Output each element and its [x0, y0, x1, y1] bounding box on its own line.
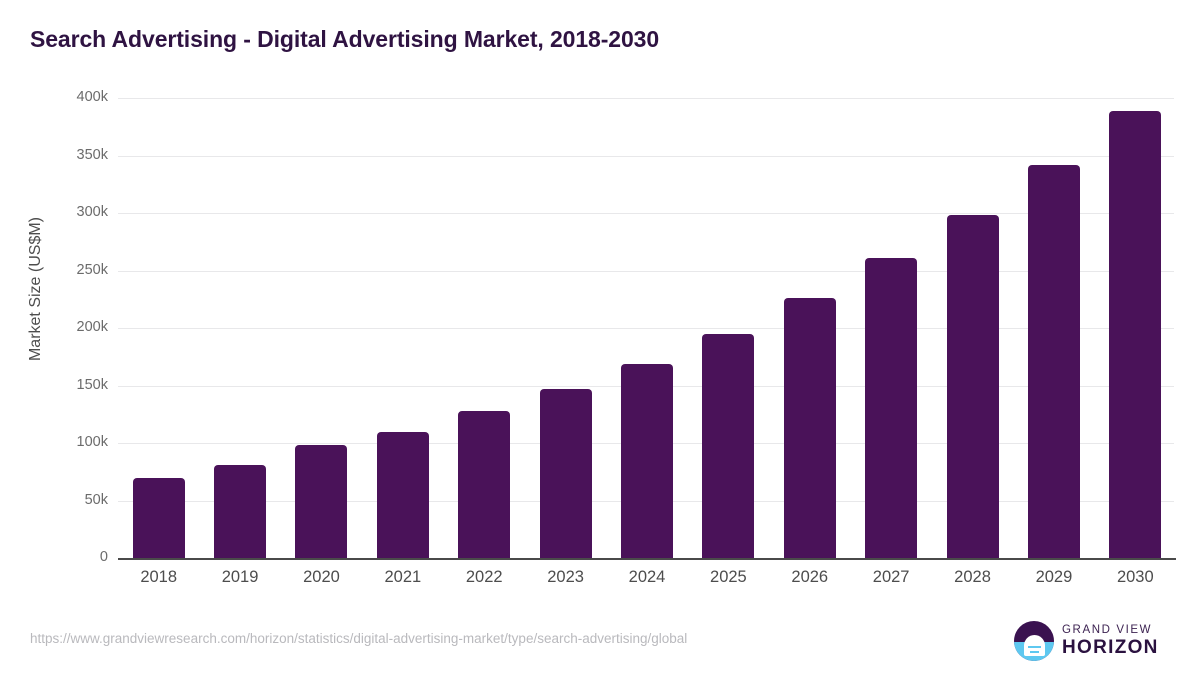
bar[interactable]	[947, 215, 999, 558]
bar[interactable]	[458, 411, 510, 558]
chart-page: Search Advertising - Digital Advertising…	[0, 0, 1200, 675]
x-tick-label: 2026	[770, 568, 850, 587]
x-tick-label: 2027	[851, 568, 931, 587]
x-tick-label: 2023	[526, 568, 606, 587]
y-tick-label: 250k	[0, 262, 108, 278]
x-tick-label: 2018	[119, 568, 199, 587]
y-tick-label: 0	[0, 549, 108, 565]
brand-logo[interactable]: GRAND VIEW HORIZON	[1012, 618, 1176, 664]
y-tick-label: 200k	[0, 319, 108, 335]
bar[interactable]	[214, 465, 266, 558]
x-tick-label: 2022	[444, 568, 524, 587]
bar[interactable]	[702, 334, 754, 558]
brand-name-primary: GRAND VIEW	[1062, 623, 1159, 637]
x-tick-label: 2020	[281, 568, 361, 587]
bar[interactable]	[865, 258, 917, 558]
logo-ray-lower	[1030, 651, 1039, 653]
bar[interactable]	[1028, 165, 1080, 558]
y-tick-label: 400k	[0, 89, 108, 105]
bar[interactable]	[1109, 111, 1161, 558]
y-tick-label: 150k	[0, 377, 108, 393]
x-tick-label: 2028	[933, 568, 1013, 587]
brand-logo-text: GRAND VIEW HORIZON	[1062, 623, 1159, 659]
y-tick-label: 300k	[0, 204, 108, 220]
page-title: Search Advertising - Digital Advertising…	[30, 26, 659, 53]
x-axis-tick-labels: 2018201920202021202220232024202520262027…	[118, 568, 1176, 598]
y-tick-label: 50k	[0, 492, 108, 508]
x-tick-label: 2019	[200, 568, 280, 587]
bar[interactable]	[133, 478, 185, 558]
x-tick-label: 2029	[1014, 568, 1094, 587]
bar[interactable]	[377, 432, 429, 559]
x-tick-label: 2021	[363, 568, 443, 587]
horizon-sun-icon	[1014, 621, 1054, 661]
source-url[interactable]: https://www.grandviewresearch.com/horizo…	[30, 631, 687, 646]
y-tick-label: 350k	[0, 147, 108, 163]
x-tick-label: 2030	[1095, 568, 1175, 587]
x-tick-label: 2024	[607, 568, 687, 587]
y-tick-label: 100k	[0, 434, 108, 450]
x-axis-line	[118, 558, 1176, 560]
y-axis-tick-labels: 050k100k150k200k250k300k350k400k	[0, 0, 108, 675]
bar-series	[118, 98, 1176, 558]
bar[interactable]	[621, 364, 673, 558]
brand-name-secondary: HORIZON	[1062, 637, 1159, 659]
x-tick-label: 2025	[688, 568, 768, 587]
bar[interactable]	[540, 389, 592, 558]
bar[interactable]	[784, 298, 836, 558]
logo-ray-upper	[1028, 646, 1041, 648]
bar[interactable]	[295, 445, 347, 558]
